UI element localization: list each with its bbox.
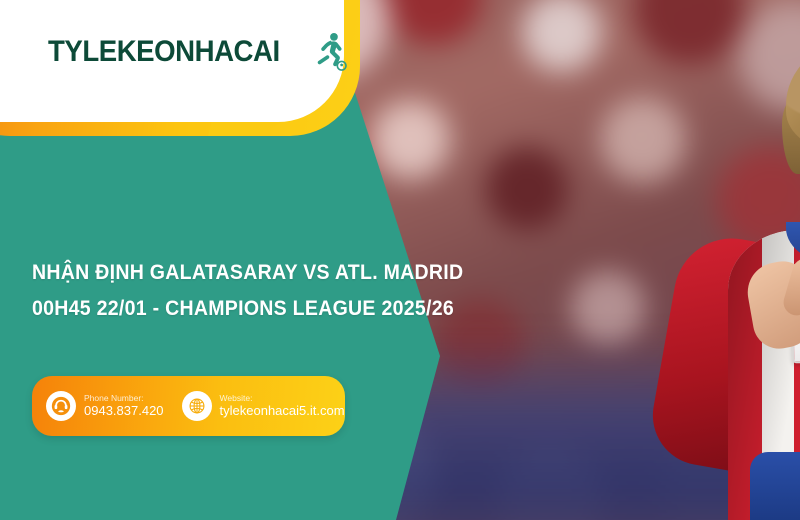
- contact-phone-label: Phone Number:: [84, 393, 164, 403]
- match-title-line-1: NHẬN ĐỊNH GALATASARAY VS ATL. MADRID: [32, 255, 385, 291]
- brand-logo-text: TYLEKEONHACAI: [48, 35, 280, 69]
- contact-website-label: Website:: [220, 393, 345, 403]
- contact-bar: Phone Number: 0943.837.420: [32, 376, 345, 436]
- contact-phone[interactable]: Phone Number: 0943.837.420: [46, 391, 164, 421]
- contact-website[interactable]: Website: tylekeonhacai5.it.com: [182, 391, 345, 421]
- contact-website-value: tylekeonhacai5.it.com: [220, 403, 345, 419]
- match-title-line-2: 00H45 22/01 - CHAMPIONS LEAGUE 2025/26: [32, 291, 385, 327]
- phone-support-icon: [46, 391, 76, 421]
- brand-logo[interactable]: TYLEKEONHACAI: [48, 30, 350, 74]
- contact-phone-text: Phone Number: 0943.837.420: [84, 393, 164, 419]
- globe-icon: [182, 391, 212, 421]
- promo-poster: Trade Online Plus500 TYLEKEONHACAI: [0, 0, 800, 520]
- soccer-player-icon: [306, 30, 350, 74]
- football-player: Trade Online Plus500: [600, 0, 800, 520]
- player-shorts: [750, 452, 800, 520]
- contact-phone-value: 0943.837.420: [84, 403, 164, 419]
- globe-glyph: [187, 396, 207, 416]
- match-title: NHẬN ĐỊNH GALATASARAY VS ATL. MADRID 00H…: [32, 255, 412, 327]
- contact-website-text: Website: tylekeonhacai5.it.com: [220, 393, 345, 419]
- phone-support-glyph: [51, 396, 71, 416]
